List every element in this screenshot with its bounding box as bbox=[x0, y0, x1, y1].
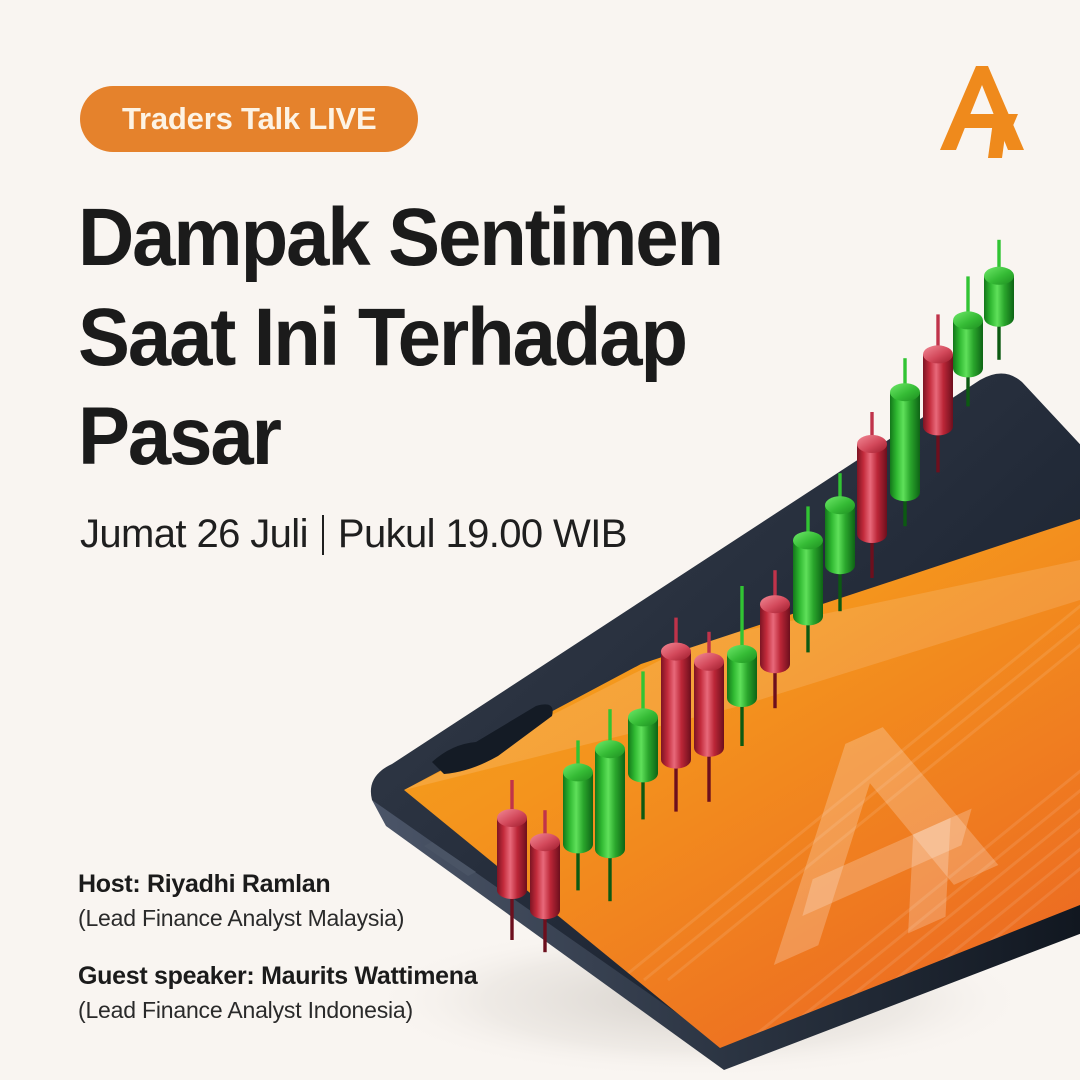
candle-body bbox=[694, 662, 724, 757]
candlestick bbox=[857, 412, 887, 578]
candlestick bbox=[825, 473, 855, 611]
candle-body bbox=[760, 604, 790, 673]
candle-cap bbox=[923, 345, 953, 363]
schedule-separator bbox=[322, 515, 324, 555]
schedule-time: Pukul 19.00 WIB bbox=[338, 512, 627, 557]
candle-cap bbox=[628, 708, 658, 726]
credit-host-name: Host: Riyadhi Ramlan bbox=[78, 870, 477, 899]
candle-body bbox=[628, 717, 658, 782]
phone-screen bbox=[404, 519, 1080, 1048]
credit-guest: Guest speaker: Maurits Wattimena (Lead F… bbox=[78, 962, 477, 1024]
candle-body bbox=[953, 320, 983, 377]
candlestick bbox=[563, 740, 593, 890]
brand-a-watermark-icon bbox=[752, 686, 1002, 992]
headline-line-2: Saat Ini Terhadap bbox=[78, 288, 800, 388]
credit-guest-name: Guest speaker: Maurits Wattimena bbox=[78, 962, 477, 991]
candle-body bbox=[923, 354, 953, 435]
candle-body bbox=[727, 654, 757, 707]
candle-cap bbox=[530, 833, 560, 851]
candle-body bbox=[857, 444, 887, 543]
credit-host-role: (Lead Finance Analyst Malaysia) bbox=[78, 905, 477, 932]
candle-cap bbox=[760, 595, 790, 613]
schedule-date: Jumat 26 Juli bbox=[80, 512, 308, 557]
credit-host: Host: Riyadhi Ramlan (Lead Finance Analy… bbox=[78, 870, 477, 932]
candlestick bbox=[923, 314, 953, 472]
candlestick bbox=[727, 586, 757, 746]
headline-line-1: Dampak Sentimen bbox=[78, 188, 800, 288]
candle-cap bbox=[890, 383, 920, 401]
candlestick bbox=[661, 618, 691, 812]
candlestick bbox=[530, 810, 560, 952]
candlestick bbox=[953, 276, 983, 406]
candle-cap bbox=[497, 809, 527, 827]
candlestick bbox=[760, 570, 790, 708]
candlestick bbox=[595, 709, 625, 901]
page-title: Dampak Sentimen Saat Ini Terhadap Pasar bbox=[78, 188, 838, 487]
candlestick bbox=[694, 632, 724, 802]
phone-notch bbox=[432, 704, 553, 774]
candle-body bbox=[793, 540, 823, 625]
candle-cap bbox=[793, 531, 823, 549]
phone-body-side bbox=[372, 800, 1080, 1070]
candle-body bbox=[563, 772, 593, 853]
candle-cap bbox=[984, 267, 1014, 285]
speaker-credits: Host: Riyadhi Ramlan (Lead Finance Analy… bbox=[78, 870, 477, 1024]
screen-sheen bbox=[404, 560, 1080, 790]
brand-a-logo-icon bbox=[932, 58, 1028, 162]
candle-body bbox=[984, 276, 1014, 327]
promo-poster: Traders Talk LIVE Dampak Sentimen Saat I… bbox=[0, 0, 1080, 1080]
headline-line-3: Pasar bbox=[78, 387, 800, 487]
candle-body bbox=[825, 505, 855, 574]
candlestick bbox=[628, 671, 658, 819]
candle-cap bbox=[825, 496, 855, 514]
candlestick bbox=[984, 240, 1014, 360]
candle-cap bbox=[563, 763, 593, 781]
candle-body bbox=[595, 749, 625, 858]
candle-body bbox=[890, 392, 920, 501]
candle-cap bbox=[727, 645, 757, 663]
candle-cap bbox=[857, 435, 887, 453]
candle-cap bbox=[595, 740, 625, 758]
candle-cap bbox=[953, 311, 983, 329]
screen-texture bbox=[620, 590, 1080, 1080]
candle-cap bbox=[694, 653, 724, 671]
candle-cap bbox=[661, 643, 691, 661]
candle-body bbox=[497, 818, 527, 899]
candlestick bbox=[793, 506, 823, 652]
candle-body bbox=[661, 652, 691, 769]
credit-guest-role: (Lead Finance Analyst Indonesia) bbox=[78, 997, 477, 1024]
live-badge-label: Traders Talk LIVE bbox=[122, 101, 376, 137]
candlestick bbox=[890, 358, 920, 526]
candlestick bbox=[497, 780, 527, 940]
schedule-line: Jumat 26 Juli Pukul 19.00 WIB bbox=[80, 512, 627, 557]
candle-body bbox=[530, 842, 560, 919]
live-badge: Traders Talk LIVE bbox=[80, 86, 418, 152]
